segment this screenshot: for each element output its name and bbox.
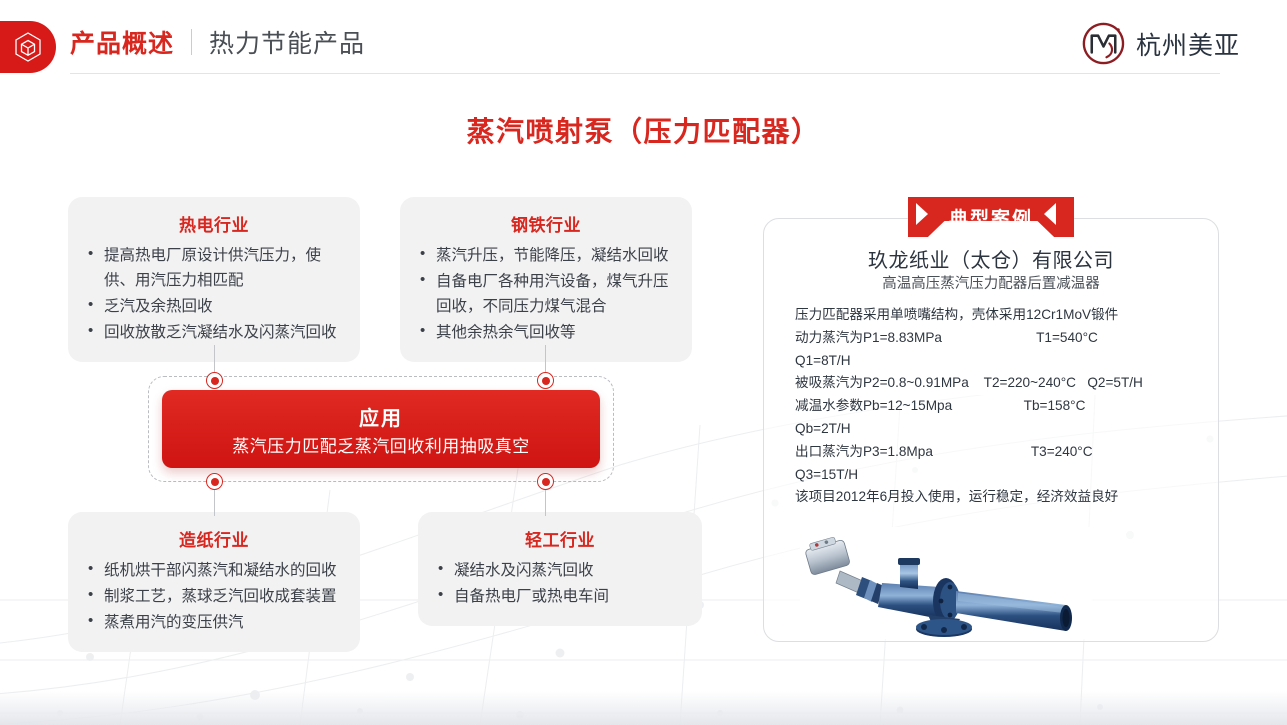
spec-line: Q3=15T/H: [795, 464, 1195, 487]
list-item: 蒸煮用汽的变压供汽: [84, 610, 344, 635]
card-list: 蒸汽升压，节能降压，凝结水回收 自备电厂各种用汽设备，煤气升压回收，不同压力煤气…: [416, 243, 676, 345]
spec-line: 该项目2012年6月投入使用，运行稳定，经济效益良好: [795, 486, 1195, 509]
card-title: 轻工行业: [434, 526, 686, 551]
list-item: 蒸汽升压，节能降压，凝结水回收: [416, 243, 676, 268]
connector-node-bottom-left: [206, 473, 223, 490]
case-company-name: 玖龙纸业（太仓）有限公司: [763, 244, 1219, 273]
card-list: 提高热电厂原设计供汽压力，使供、用汽压力相匹配 乏汽及余热回收 回收放散乏汽凝结…: [84, 243, 344, 345]
meiya-circle-m-logo-icon: [1080, 20, 1127, 67]
list-item: 其他余热余气回收等: [416, 320, 676, 345]
case-spec-list: 压力匹配器采用单喷嘴结构，壳体采用12Cr1MoV锻件 动力蒸汽为P1=8.83…: [795, 304, 1195, 509]
spec-line: 动力蒸汽为P1=8.83MPa T1=540°C: [795, 327, 1195, 350]
brand-logo: 杭州美亚: [1080, 20, 1240, 67]
connector-stem-top-left: [214, 345, 215, 375]
spec-line: Qb=2T/H: [795, 418, 1195, 441]
spec-line: 出口蒸汽为P3=1.8Mpa T3=240°C: [795, 441, 1195, 464]
list-item: 凝结水及闪蒸汽回收: [434, 558, 686, 583]
spec-line: Q1=8T/H: [795, 350, 1195, 373]
info-card-paper: 造纸行业 纸机烘干部闪蒸汽和凝结水的回收 制浆工艺，蒸球乏汽回收成套装置 蒸煮用…: [68, 512, 360, 652]
info-card-thermal-power: 热电行业 提高热电厂原设计供汽压力，使供、用汽压力相匹配 乏汽及余热回收 回收放…: [68, 197, 360, 362]
card-list: 纸机烘干部闪蒸汽和凝结水的回收 制浆工艺，蒸球乏汽回收成套装置 蒸煮用汽的变压供…: [84, 558, 344, 635]
spec-line: 减温水参数Pb=12~15Mpa Tb=158°C: [795, 395, 1195, 418]
brand-name: 杭州美亚: [1136, 26, 1240, 62]
application-description: 蒸汽压力匹配乏蒸汽回收利用抽吸真空: [232, 432, 530, 457]
application-label: 应用: [359, 402, 403, 431]
ribbon-left-arrow-icon: [916, 203, 928, 225]
connector-node-top-right: [537, 372, 554, 389]
steam-ejector-pump-photo: [800, 527, 1092, 639]
spec-line: 被吸蒸汽为P2=0.8~0.91MPa T2=220~240°C Q2=5T/H: [795, 372, 1195, 395]
connector-stem-bottom-left: [214, 488, 215, 516]
list-item: 乏汽及余热回收: [84, 294, 344, 319]
slide-canvas: 产品概述 热力节能产品 杭州美亚 蒸汽喷射泵（压力匹配器） 热电行业 提高热电厂…: [0, 0, 1287, 725]
list-item: 自备热电厂或热电车间: [434, 584, 686, 609]
application-diagram: 热电行业 提高热电厂原设计供汽压力，使供、用汽压力相匹配 乏汽及余热回收 回收放…: [0, 0, 760, 725]
connector-node-bottom-right: [537, 473, 554, 490]
list-item: 提高热电厂原设计供汽压力，使供、用汽压力相匹配: [84, 243, 344, 293]
card-title: 热电行业: [84, 211, 344, 236]
ribbon-right-arrow-icon: [1044, 203, 1056, 225]
info-card-steel: 钢铁行业 蒸汽升压，节能降压，凝结水回收 自备电厂各种用汽设备，煤气升压回收，不…: [400, 197, 692, 362]
connector-stem-bottom-right: [545, 488, 546, 516]
list-item: 自备电厂各种用汽设备，煤气升压回收，不同压力煤气混合: [416, 269, 676, 319]
card-title: 造纸行业: [84, 526, 344, 551]
card-list: 凝结水及闪蒸汽回收 自备热电厂或热电车间: [434, 558, 686, 609]
info-card-light-industry: 轻工行业 凝结水及闪蒸汽回收 自备热电厂或热电车间: [418, 512, 702, 626]
connector-stem-top-right: [545, 345, 546, 375]
connector-node-top-left: [206, 372, 223, 389]
case-subtitle: 高温高压蒸汽压力配器后置减温器: [763, 272, 1219, 293]
list-item: 制浆工艺，蒸球乏汽回收成套装置: [84, 584, 344, 609]
application-banner: 应用 蒸汽压力匹配乏蒸汽回收利用抽吸真空: [162, 390, 600, 468]
card-title: 钢铁行业: [416, 211, 676, 236]
spec-line: 压力匹配器采用单喷嘴结构，壳体采用12Cr1MoV锻件: [795, 304, 1195, 327]
list-item: 纸机烘干部闪蒸汽和凝结水的回收: [84, 558, 344, 583]
list-item: 回收放散乏汽凝结水及闪蒸汽回收: [84, 320, 344, 345]
